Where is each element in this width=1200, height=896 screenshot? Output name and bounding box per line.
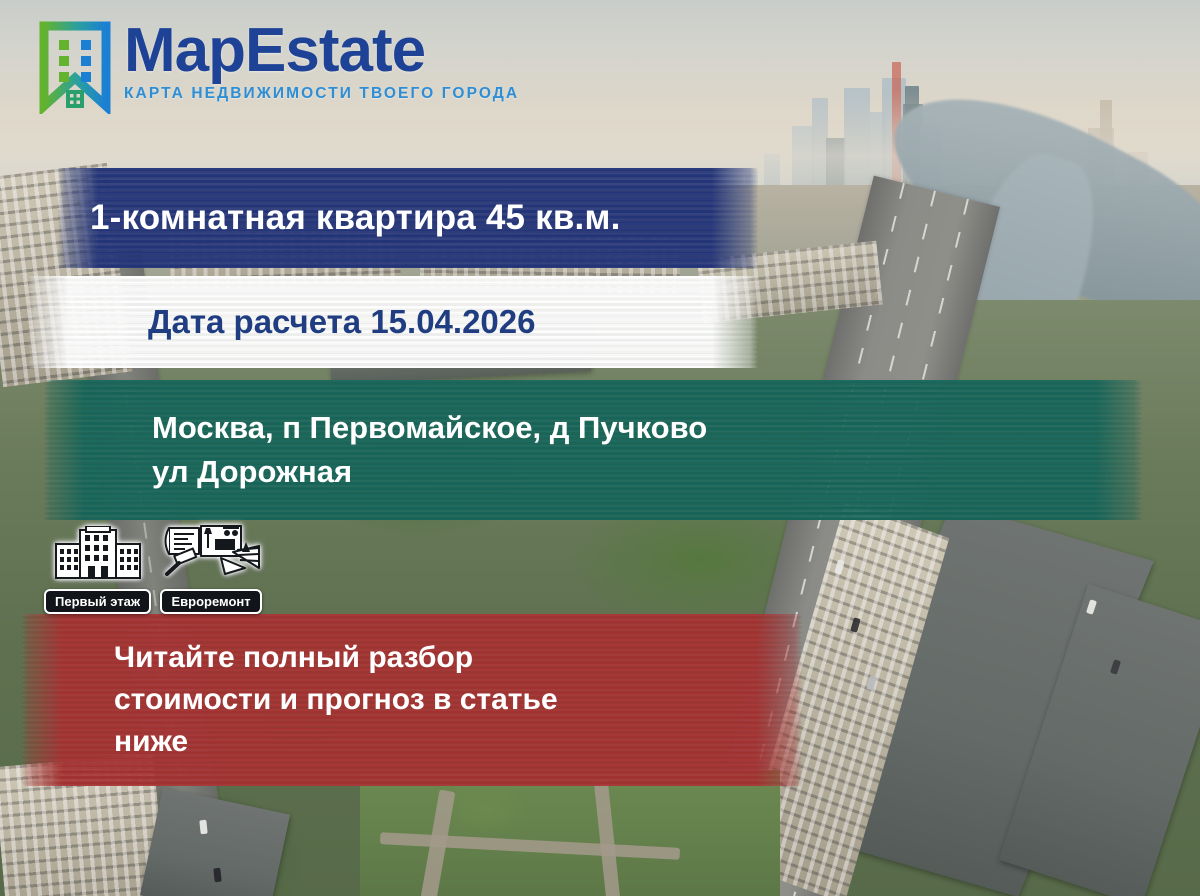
cta-line-2: стоимости и прогноз в статье (114, 679, 558, 721)
badge-first-floor-label: Первый этаж (44, 589, 151, 614)
cta-text: Читайте полный разбор стоимости и прогно… (22, 637, 558, 763)
car (199, 820, 207, 835)
badge-first-floor[interactable]: Первый этаж (44, 526, 151, 614)
brand-wordmark: MapEstate (124, 22, 519, 79)
address-line-1: Москва, п Первомайское, д Пучково (152, 406, 707, 450)
badge-euro-renovation-label: Евроремонт (160, 589, 261, 614)
brand-tagline: КАРТА НЕДВИЖИМОСТИ ТВОЕГО ГОРОДА (124, 85, 519, 103)
cta-line-1: Читайте полный разбор (114, 637, 558, 679)
banner-address: Москва, п Первомайское, д Пучково ул Дор… (44, 380, 1142, 520)
brand-logo[interactable]: MapEstate КАРТА НЕДВИЖИМОСТИ ТВОЕГО ГОРО… (36, 18, 519, 114)
address-text: Москва, п Первомайское, д Пучково ул Дор… (44, 406, 707, 494)
cta-line-3: ниже (114, 721, 558, 763)
car (213, 868, 221, 883)
address-line-2: ул Дорожная (152, 450, 707, 494)
courtyard-green (360, 770, 780, 896)
banner-apartment: 1-комнатная квартира 45 кв.м. (58, 168, 758, 268)
badge-euro-renovation[interactable]: Евроремонт (159, 522, 263, 614)
renovation-tools-icon (159, 522, 263, 587)
real-estate-poster: MapEstate КАРТА НЕДВИЖИМОСТИ ТВОЕГО ГОРО… (0, 0, 1200, 896)
calculation-date-text: Дата расчета 15.04.2026 (28, 303, 535, 341)
apartment-title-text: 1-комнатная квартира 45 кв.м. (58, 198, 621, 238)
map-pin-building-icon (36, 18, 114, 114)
apartment-building-icon (52, 526, 144, 587)
banner-call-to-action: Читайте полный разбор стоимости и прогно… (22, 614, 802, 786)
banner-calculation-date: Дата расчета 15.04.2026 (28, 276, 758, 368)
feature-badges: Первый этаж (44, 522, 263, 614)
